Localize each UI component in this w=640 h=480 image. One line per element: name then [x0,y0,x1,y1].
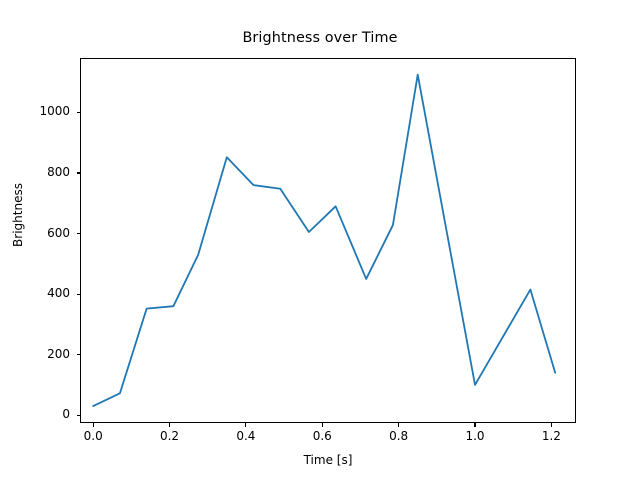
x-tick-mark [93,423,94,427]
x-tick-label: 0.0 [63,429,123,443]
x-tick-label: 0.6 [292,429,352,443]
x-tick-mark [551,423,552,427]
y-tick-label: 1000 [0,104,70,118]
axes-frame [80,58,576,423]
y-axis-label: Brightness [11,135,25,295]
y-tick-mark [77,294,81,295]
x-tick-mark [398,423,399,427]
y-tick-label: 0 [0,407,70,421]
x-tick-mark [245,423,246,427]
y-tick-mark [77,233,81,234]
chart-title: Brightness over Time [0,30,640,46]
y-tick-mark [77,112,81,113]
x-tick-label: 0.4 [216,429,276,443]
y-tick-mark [77,415,81,416]
x-tick-label: 0.2 [140,429,200,443]
x-tick-label: 1.2 [521,429,581,443]
x-tick-label: 1.0 [445,429,505,443]
x-tick-mark [322,423,323,427]
x-tick-mark [169,423,170,427]
x-tick-label: 0.8 [369,429,429,443]
y-tick-mark [77,172,81,173]
y-tick-label: 200 [0,347,70,361]
y-tick-mark [77,354,81,355]
x-axis-label: Time [s] [80,453,576,467]
figure-canvas: Brightness over Time 0.00.20.40.60.81.01… [0,0,640,480]
x-tick-mark [474,423,475,427]
